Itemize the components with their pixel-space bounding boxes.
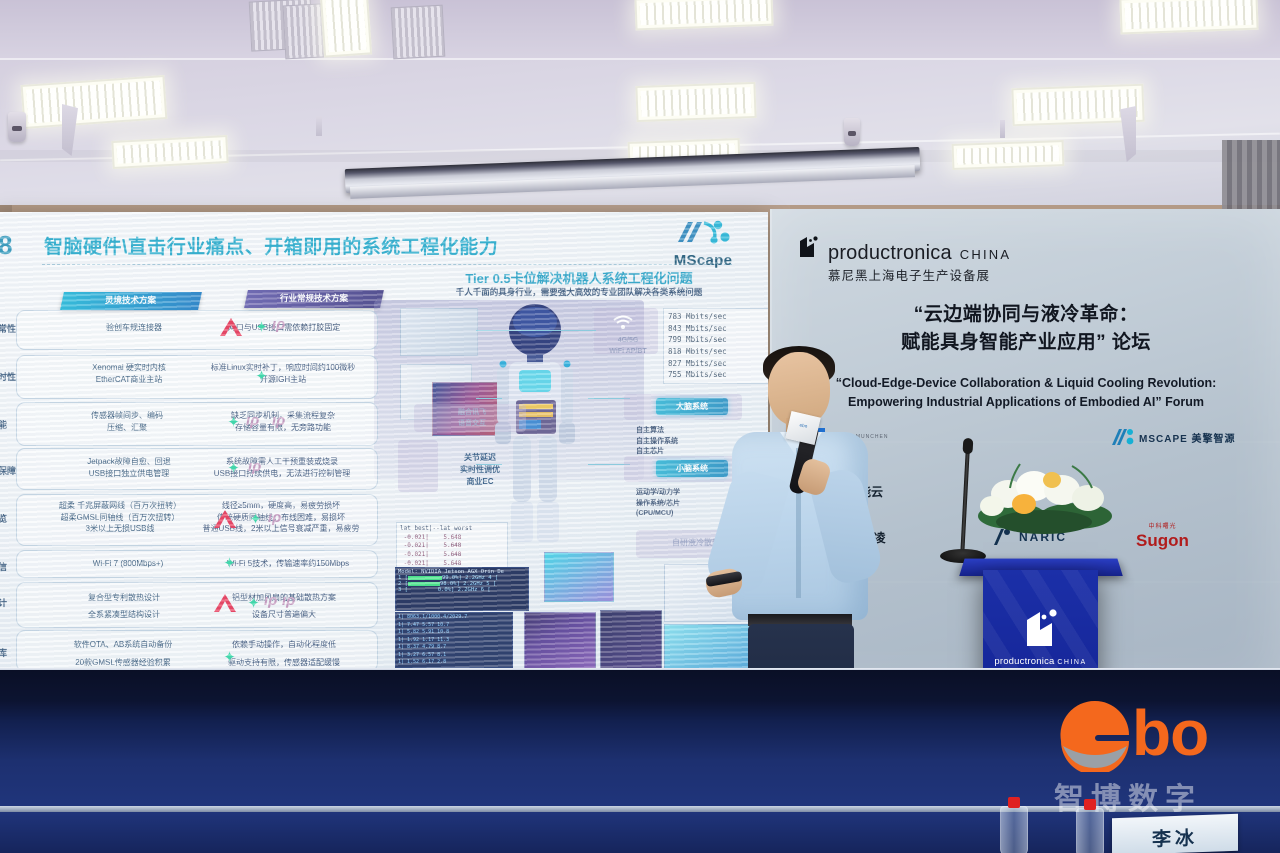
mscape-sponsor-icon xyxy=(1110,427,1134,447)
cell-right: 标准Linux实时补丁，响应时间约100微秒 开源IGH主站 xyxy=(192,362,374,385)
joint-latency-note: 关节延迟 实时性调优 商业EC xyxy=(440,452,520,488)
slide-photo-panel xyxy=(400,308,478,356)
sponsor-sugon-sub: 中科曙光 xyxy=(1148,521,1176,530)
slide-title-divider xyxy=(42,264,732,265)
terminal-line: 3 [ 0.0%] 2.2GHz 6 [ xyxy=(398,587,526,593)
name-card: 李冰 xyxy=(1112,814,1238,853)
row-label: 能 xyxy=(0,418,7,431)
row-label: 时性 xyxy=(0,370,16,383)
benchmark-terminal: 1| 8063.1/1000.4/2029.7 1| 7.47 5.57 10.… xyxy=(395,612,513,668)
productronica-logo: productronica CHINA xyxy=(798,235,1011,265)
sponsor-sugon: 中科曙光 Sugon xyxy=(1136,521,1189,551)
ceiling-light xyxy=(635,82,756,122)
forum-title-cn: “云边端协同与液冷革命： 赋能具身智能产业应用” 论坛 xyxy=(770,301,1280,356)
partner-logo-icon: ıρ xyxy=(272,316,285,333)
cell-left: 传感器帧间步、编码 压缩、汇聚 xyxy=(44,410,210,433)
partner-logo-icon: ıρ xyxy=(248,458,261,475)
ceiling-light xyxy=(320,0,372,58)
name-card-text: 李冰 xyxy=(1112,822,1238,853)
cell-left: Wi-Fi 7 (800Mbps+) xyxy=(48,558,208,570)
star-logo-icon: ✦ xyxy=(226,415,241,430)
podium-brand-region: CHINA xyxy=(1057,659,1086,666)
podium-brand: productronica CHINA xyxy=(983,656,1098,667)
cell-left: 软件OTA、AB系统自动备份 20款GMSL传感器经验积累 xyxy=(34,636,212,671)
terminal-line: 1| 3.27 6.57 8.1 xyxy=(398,652,510,660)
row-label: 库 xyxy=(0,646,7,659)
hongchuang-logo-icon xyxy=(212,508,238,530)
terminal-line: 1| 7.47 5.57 10.7 xyxy=(398,622,510,630)
latency-header: lat best|--lat worst xyxy=(400,525,504,534)
latency-row: -0.021| 5.648 xyxy=(400,534,504,543)
slide-photo-thermal xyxy=(600,610,662,670)
cell-left: 验创车规连接器 xyxy=(54,322,214,334)
mic-cube-text: ebo xyxy=(788,421,818,431)
sprinkler xyxy=(316,116,322,136)
cell-right: 依赖手动操作，自动化程度低 驱动支持有限，传感器适配缓慢 xyxy=(192,636,376,671)
speed-line: 843 Mbits/sec xyxy=(668,323,766,335)
slide-title: 智脑硬件\直击行业痛点、开箱即用的系统工程化能力 xyxy=(44,232,498,259)
air-vent xyxy=(391,5,446,60)
partner-logo-icon: ıρ xyxy=(282,592,295,609)
podium-brand-word: productronica xyxy=(994,656,1054,667)
diagram-connector xyxy=(476,398,502,399)
star-logo-icon: ✦ xyxy=(254,369,269,384)
star-logo-icon: ✦ xyxy=(222,650,237,665)
forum-title-cn-line1: “云边端协同与液冷革命： xyxy=(770,301,1280,329)
partner-logo-icon: ıρ xyxy=(272,412,285,429)
joint-icon-box xyxy=(398,440,438,492)
conference-photo: 8 智脑硬件\直击行业痛点、开箱即用的系统工程化能力 MScape 灵境技术方案… xyxy=(0,0,1280,853)
podium-productronica-mark-icon xyxy=(1022,606,1060,650)
column-header-right-label: 行业常规技术方案 xyxy=(280,294,348,304)
star-logo-icon: ✦ xyxy=(226,461,241,476)
speed-line: 799 Mbits/sec xyxy=(668,334,766,346)
mscape-logo: MScape xyxy=(660,220,746,269)
terminal-line: 1| 8.37 4.79 8.7 xyxy=(398,644,510,652)
terminal-line: 1| 5.82 5.91 10.8 xyxy=(398,629,510,637)
cell-left: 复合型专利散热设计 全系紧凑型结构设计 xyxy=(40,590,208,624)
sponsor-mscape: MSCAPE 美擎智源 xyxy=(1110,427,1236,447)
star-logo-icon: ✦ xyxy=(254,320,269,335)
latency-row: -0.021| 5.648 xyxy=(400,551,504,560)
right-panel-subtitle: 千人千面的具身行业，需要强大高效的专业团队解决各类系统问题 xyxy=(390,286,768,298)
slide-photo-heatsink xyxy=(544,552,614,602)
cell-right: 系统故障需人工干预重装或烧录 USB接口持续供电，无法进行控制管理 xyxy=(188,456,376,479)
ceiling-light xyxy=(634,0,773,30)
sprinkler xyxy=(1000,120,1005,138)
wifi-icon xyxy=(612,313,634,331)
partner-logo-icon: ıρ xyxy=(246,412,259,429)
productronica-mark-icon xyxy=(798,235,820,259)
watermark-wordmark: bo xyxy=(1132,700,1208,766)
projection-screen: 8 智脑硬件\直击行业痛点、开箱即用的系统工程化能力 MScape 灵境技术方案… xyxy=(0,212,768,674)
mscape-wordmark: MScape xyxy=(660,252,746,269)
column-header-left-label: 灵境技术方案 xyxy=(105,296,156,306)
water-bottle xyxy=(1076,808,1104,853)
ceiling-light xyxy=(21,75,168,129)
chip-voice-label: 融合讯飞 语音交互 xyxy=(424,408,520,429)
row-label: 常性 xyxy=(0,322,16,335)
wifi-node-label: 4G/5G WiFi AP/BT xyxy=(600,336,656,357)
terminal-line: 1| 1.92 1.17 11.3 xyxy=(398,637,510,645)
terminal-line: 1| 8063.1/1000.4/2029.7 xyxy=(398,614,510,622)
ceiling-light xyxy=(111,135,228,169)
partner-logo-icon: ıρ xyxy=(268,509,281,526)
row-label: 计 xyxy=(0,596,7,609)
flower-arrangement xyxy=(972,452,1122,538)
right-panel-title: Tier 0.5卡位解决机器人系统工程化问题 xyxy=(390,268,768,287)
productronica-region: CHINA xyxy=(960,247,1011,262)
backdrop-brand-cn: 慕尼黑上海电子生产设备展 xyxy=(828,265,990,284)
column-header-left: 灵境技术方案 xyxy=(60,292,202,310)
hongchuang-logo-icon xyxy=(218,316,244,338)
ceiling xyxy=(0,0,1280,212)
latency-row: -0.021| 5.648 xyxy=(400,542,504,551)
water-bottle xyxy=(1000,806,1028,853)
row-label: 信 xyxy=(0,560,7,573)
speed-line: 783 Mbits/sec xyxy=(668,311,766,323)
star-logo-icon: ✦ xyxy=(248,512,263,527)
slide-photo-thermal xyxy=(524,612,596,670)
flowers-icon xyxy=(972,452,1122,538)
hongchuang-logo-icon xyxy=(212,592,238,614)
sponsor-mscape-label: MSCAPE 美擎智源 xyxy=(1139,430,1236,445)
ceiling-light xyxy=(952,140,1065,170)
star-logo-icon: ✦ xyxy=(222,556,237,571)
ceiling-light xyxy=(1119,0,1258,34)
jetson-terminal: Model: NVIDIA Jetson AGX Orin De 1 [99.0… xyxy=(395,567,529,611)
ebo-logo-icon xyxy=(1058,698,1132,772)
ceiling-seam xyxy=(0,58,1280,60)
column-header-right: 行业常规技术方案 xyxy=(244,290,384,308)
light-bracket xyxy=(62,104,78,156)
ceiling-speaker xyxy=(844,118,860,146)
watermark: bo 智博数字 xyxy=(1048,690,1270,812)
cell-left: Xenomai 硬实时内核 EtherCAT商业主站 xyxy=(44,362,214,385)
partner-logo-icon: ıρ xyxy=(264,592,277,609)
diagram-connector xyxy=(476,330,596,331)
sponsor-sugon-label: Sugon xyxy=(1136,531,1189,551)
row-label: 览 xyxy=(0,512,7,525)
row-label: 保障 xyxy=(0,464,16,477)
mscape-mark-icon xyxy=(674,220,732,246)
terminal-line: 1| 1.52 6.17 2.8 xyxy=(398,659,510,667)
productronica-wordmark: productronica xyxy=(828,242,952,265)
slide-page-number: 8 xyxy=(0,230,13,261)
star-logo-icon: ✦ xyxy=(246,596,261,611)
ceiling-speaker xyxy=(8,112,26,142)
